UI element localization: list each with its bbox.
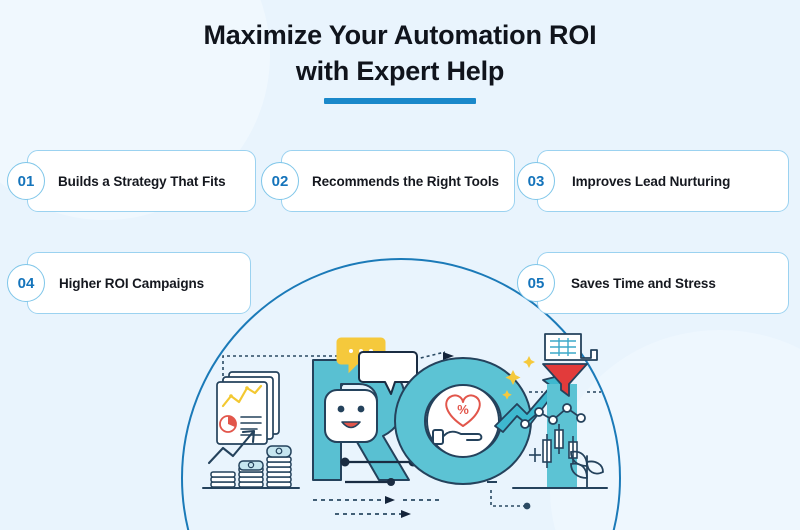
card-label-04: Higher ROI Campaigns (59, 276, 204, 291)
infographic-canvas: Maximize Your Automation ROI with Expert… (0, 0, 800, 530)
card-label-03: Improves Lead Nurturing (572, 174, 730, 189)
card-badge-04: 04 (7, 264, 45, 302)
header: Maximize Your Automation ROI with Expert… (0, 18, 800, 104)
feature-card-03[interactable]: 03 Improves Lead Nurturing (537, 150, 789, 212)
bottom-dotted-arrows (313, 500, 443, 514)
card-badge-03: 03 (517, 162, 555, 200)
pie-chart-icon (220, 416, 236, 432)
feature-card-01[interactable]: 01 Builds a Strategy That Fits (27, 150, 256, 212)
card-badge-05: 05 (517, 264, 555, 302)
hand-holding-heart-percent-icon: % (427, 385, 499, 457)
card-badge-01: 01 (7, 162, 45, 200)
percent-symbol: % (457, 402, 469, 417)
feature-card-04[interactable]: 04 Higher ROI Campaigns (27, 252, 251, 314)
roi-illustration: % (195, 330, 615, 530)
title-underline (324, 98, 476, 104)
smiley-face-icon (325, 390, 377, 442)
card-label-01: Builds a Strategy That Fits (58, 174, 226, 189)
card-badge-02: 02 (261, 162, 299, 200)
feature-card-05[interactable]: 05 Saves Time and Stress (537, 252, 789, 314)
page-title: Maximize Your Automation ROI with Expert… (0, 18, 800, 89)
documents-with-line-chart-icon (217, 372, 279, 444)
spreadsheet-document-icon (545, 334, 597, 360)
feature-card-02[interactable]: 02 Recommends the Right Tools (281, 150, 515, 212)
card-label-02: Recommends the Right Tools (312, 174, 499, 189)
card-label-05: Saves Time and Stress (571, 276, 716, 291)
